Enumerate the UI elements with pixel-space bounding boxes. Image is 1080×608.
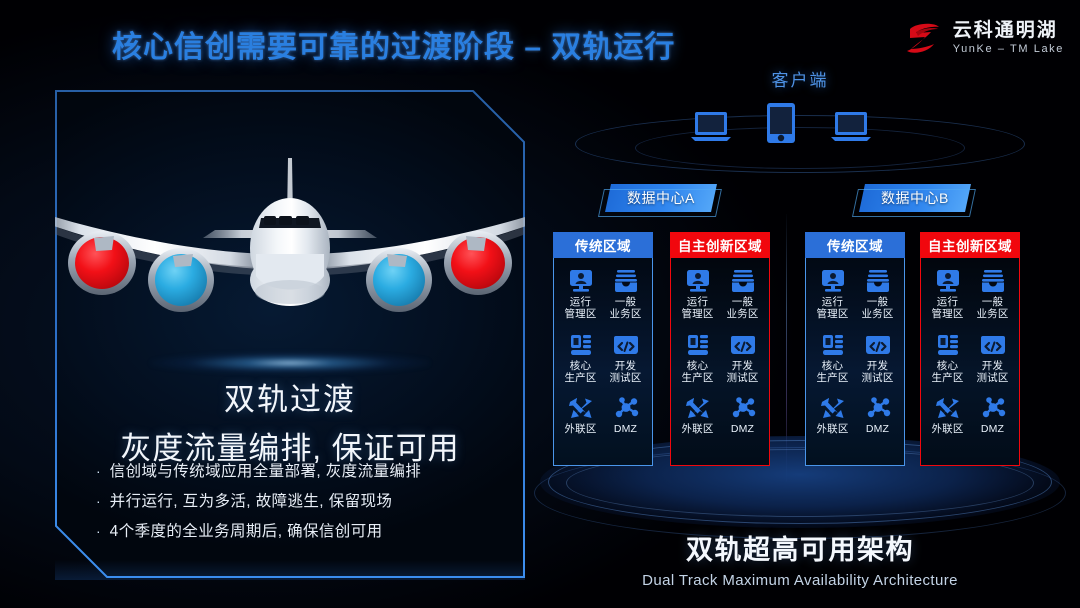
zone-cell[interactable]: 开发测试区 [970,332,1015,396]
bullet-text: 4个季度的全业务周期后, 确保信创可用 [110,522,383,541]
zone-cell-label: 一般业务区 [609,296,641,320]
zone-cell-label: 外联区 [681,423,713,435]
zone-cell[interactable]: 运行管理区 [675,268,720,332]
zone-cell-label: 外联区 [564,423,596,435]
datacenter-label-b: 数据中心B [859,184,971,212]
network-nodes-icon [865,395,891,421]
zone-cell-label: 一般业务区 [726,296,758,320]
datacenter-label-b-text: 数据中心B [881,188,949,208]
inbox-stack-icon [980,268,1006,294]
zone-cell[interactable]: 运行管理区 [810,268,855,332]
user-monitor-icon [685,268,711,294]
code-window-icon [730,332,756,358]
zone-cell-label: 运行管理区 [816,296,848,320]
zone-cell[interactable]: 核心生产区 [925,332,970,396]
zone-body: 运行管理区一般业务区核心生产区开发测试区外联区DMZ [805,258,905,466]
page-title: 核心信创需要可靠的过渡阶段 – 双轨运行 [112,22,675,66]
zone-cell[interactable]: 开发测试区 [720,332,765,396]
zone-cell[interactable]: DMZ [855,395,900,459]
zone-cell[interactable]: DMZ [970,395,1015,459]
zone-header: 传统区域 [553,232,653,258]
client-device-laptop-left [690,110,732,149]
client-device-tablet [766,102,796,149]
list-item: · 并行运行, 互为多活, 故障逃生, 保留现场 [96,492,496,511]
left-panel-bottom-glow [55,560,525,580]
zone-cell-label: 开发测试区 [861,360,893,384]
datacenter-label-a-text: 数据中心A [627,188,695,208]
zone-cell[interactable]: 外联区 [925,395,970,459]
zone-cell[interactable]: 一般业务区 [720,268,765,332]
zone-cell[interactable]: DMZ [603,395,648,459]
arrows-branch-icon [819,395,847,421]
zone-cell[interactable]: 外联区 [810,395,855,459]
zone-cell[interactable]: 一般业务区 [855,268,900,332]
code-window-icon [865,332,891,358]
airplane-ground-glow [150,352,430,374]
caption-chinese: 双轨超高可用架构 [560,528,1040,567]
zone-dc-b-traditional[interactable]: 传统区域运行管理区一般业务区核心生产区开发测试区外联区DMZ [805,232,905,466]
zone-cell-label: DMZ [866,423,889,435]
server-core-icon [820,332,846,358]
zone-cell[interactable]: 外联区 [558,395,603,459]
server-core-icon [685,332,711,358]
zone-cell[interactable]: DMZ [720,395,765,459]
zone-cell-label: 核心生产区 [816,360,848,384]
code-window-icon [980,332,1006,358]
inbox-stack-icon [865,268,891,294]
arrows-branch-icon [934,395,962,421]
list-item: · 信创域与传统域应用全量部署, 灰度流量编排 [96,462,496,481]
zone-body: 运行管理区一般业务区核心生产区开发测试区外联区DMZ [553,258,653,466]
user-monitor-icon [935,268,961,294]
server-core-icon [568,332,594,358]
code-window-icon [613,332,639,358]
logo-text-cn: 云科通明湖 [953,21,1064,41]
bullet-marker-icon: · [96,492,101,511]
zone-cell-label: 运行管理区 [931,296,963,320]
bullet-text: 信创域与传统域应用全量部署, 灰度流量编排 [110,462,422,481]
zone-cell-label: 外联区 [931,423,963,435]
network-nodes-icon [613,395,639,421]
zone-cell-label: 开发测试区 [726,360,758,384]
network-nodes-icon [980,395,1006,421]
zone-cell-label: DMZ [614,423,637,435]
zone-cell[interactable]: 运行管理区 [925,268,970,332]
zone-cell-label: 核心生产区 [931,360,963,384]
zone-cell[interactable]: 核心生产区 [558,332,603,396]
left-panel-bullet-list: · 信创域与传统域应用全量部署, 灰度流量编排 · 并行运行, 互为多活, 故障… [96,462,496,552]
headline-line-1: 双轨过渡 [55,374,525,419]
inbox-stack-icon [730,268,756,294]
zone-cell-label: 外联区 [816,423,848,435]
datacenter-label-a: 数据中心A [605,184,717,212]
zone-cell-label: 核心生产区 [564,360,596,384]
network-nodes-icon [730,395,756,421]
user-monitor-icon [568,268,594,294]
caption-english: Dual Track Maximum Availability Architec… [560,572,1040,589]
inbox-stack-icon [613,268,639,294]
bullet-marker-icon: · [96,462,101,481]
zone-cell-label: 核心生产区 [681,360,713,384]
zone-cell-label: 开发测试区 [976,360,1008,384]
zone-dc-b-innovation[interactable]: 自主创新区域运行管理区一般业务区核心生产区开发测试区外联区DMZ [920,232,1020,466]
zone-cell[interactable]: 外联区 [675,395,720,459]
server-core-icon [935,332,961,358]
zone-dc-a-innovation[interactable]: 自主创新区域运行管理区一般业务区核心生产区开发测试区外联区DMZ [670,232,770,466]
zone-cell[interactable]: 开发测试区 [603,332,648,396]
arrows-branch-icon [567,395,595,421]
client-device-group [690,102,872,149]
zone-dc-a-traditional[interactable]: 传统区域运行管理区一般业务区核心生产区开发测试区外联区DMZ [553,232,653,466]
bullet-text: 并行运行, 互为多活, 故障逃生, 保留现场 [110,492,393,511]
brand-logo: 云科通明湖 YunKe – TM Lake [904,18,1064,58]
client-section-label: 客户端 [740,66,860,91]
arrows-branch-icon [684,395,712,421]
diagram-caption: 双轨超高可用架构 Dual Track Maximum Availability… [560,528,1040,589]
slide-root: 核心信创需要可靠的过渡阶段 – 双轨运行 云科通明湖 YunKe – TM La… [0,0,1080,608]
logo-swoosh-icon [904,18,944,58]
zone-header: 自主创新区域 [670,232,770,258]
zone-header: 传统区域 [805,232,905,258]
user-monitor-icon [820,268,846,294]
zone-cell[interactable]: 一般业务区 [603,268,648,332]
left-panel-headline: 双轨过渡 灰度流量编排, 保证可用 [55,374,525,468]
zone-cell-label: 一般业务区 [861,296,893,320]
zone-cell-label: DMZ [981,423,1004,435]
zone-body: 运行管理区一般业务区核心生产区开发测试区外联区DMZ [670,258,770,466]
zone-cell[interactable]: 核心生产区 [675,332,720,396]
logo-text-en: YunKe – TM Lake [953,44,1064,56]
zone-cell-label: 运行管理区 [681,296,713,320]
zone-cell-label: DMZ [731,423,754,435]
zone-cell[interactable]: 核心生产区 [810,332,855,396]
zone-body: 运行管理区一般业务区核心生产区开发测试区外联区DMZ [920,258,1020,466]
zone-cell[interactable]: 运行管理区 [558,268,603,332]
zone-cell-label: 运行管理区 [564,296,596,320]
zone-cell[interactable]: 一般业务区 [970,268,1015,332]
list-item: · 4个季度的全业务周期后, 确保信创可用 [96,522,496,541]
bullet-marker-icon: · [96,522,101,541]
zone-cell[interactable]: 开发测试区 [855,332,900,396]
zone-cell-label: 开发测试区 [609,360,641,384]
zone-cell-label: 一般业务区 [976,296,1008,320]
zone-header: 自主创新区域 [920,232,1020,258]
client-device-laptop-right [830,110,872,149]
